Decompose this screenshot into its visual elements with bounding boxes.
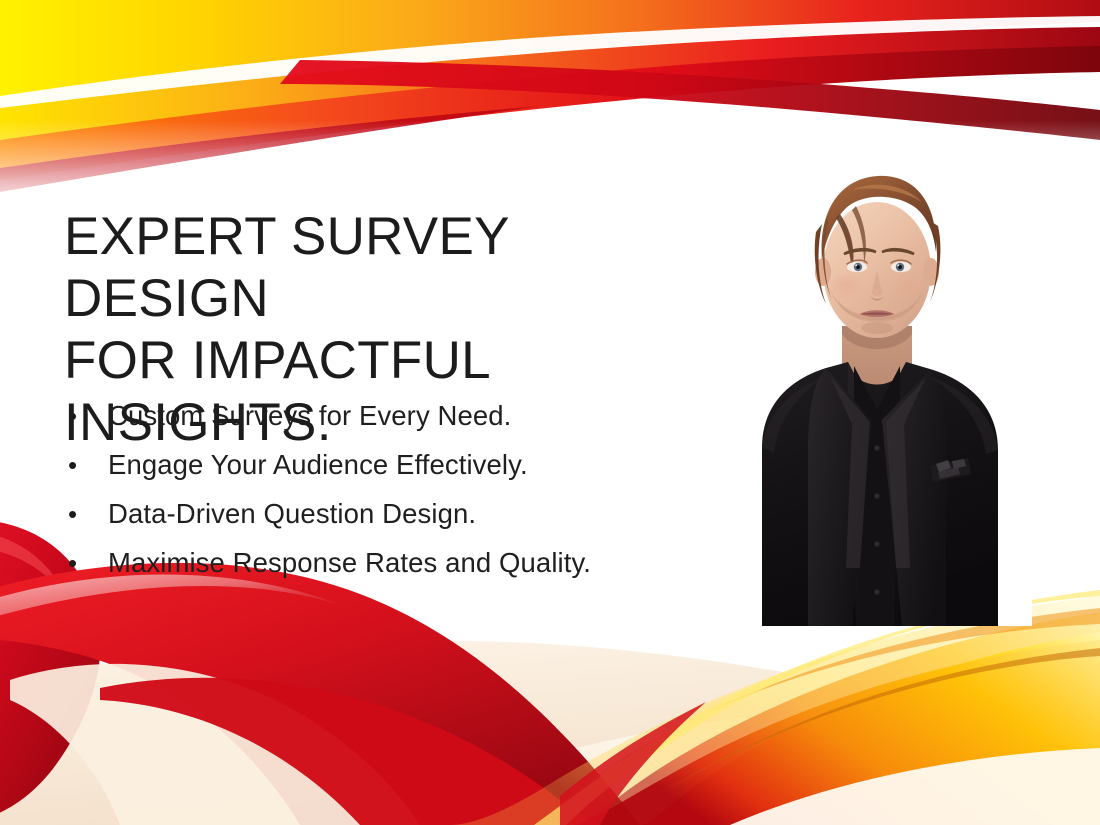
list-item: • Engage Your Audience Effectively. [64,449,744,498]
bullet-list: • Custom Surveys for Every Need. • Engag… [64,400,744,596]
list-item: • Custom Surveys for Every Need. [64,400,744,449]
list-item: • Maximise Response Rates and Quality. [64,547,744,596]
bullet-point-icon: • [64,452,108,478]
bullet-point-icon: • [64,403,108,429]
list-item-label: Maximise Response Rates and Quality. [108,547,591,579]
bullet-point-icon: • [64,550,108,576]
list-item: • Data-Driven Question Design. [64,498,744,547]
list-item-label: Custom Surveys for Every Need. [108,400,511,432]
bullet-point-icon: • [64,501,108,527]
presentation-slide: EXPERT SURVEY DESIGN FOR IMPACTFUL INSIG… [0,0,1100,825]
presenter-photo [722,148,1032,626]
list-item-label: Data-Driven Question Design. [108,498,476,530]
list-item-label: Engage Your Audience Effectively. [108,449,528,481]
